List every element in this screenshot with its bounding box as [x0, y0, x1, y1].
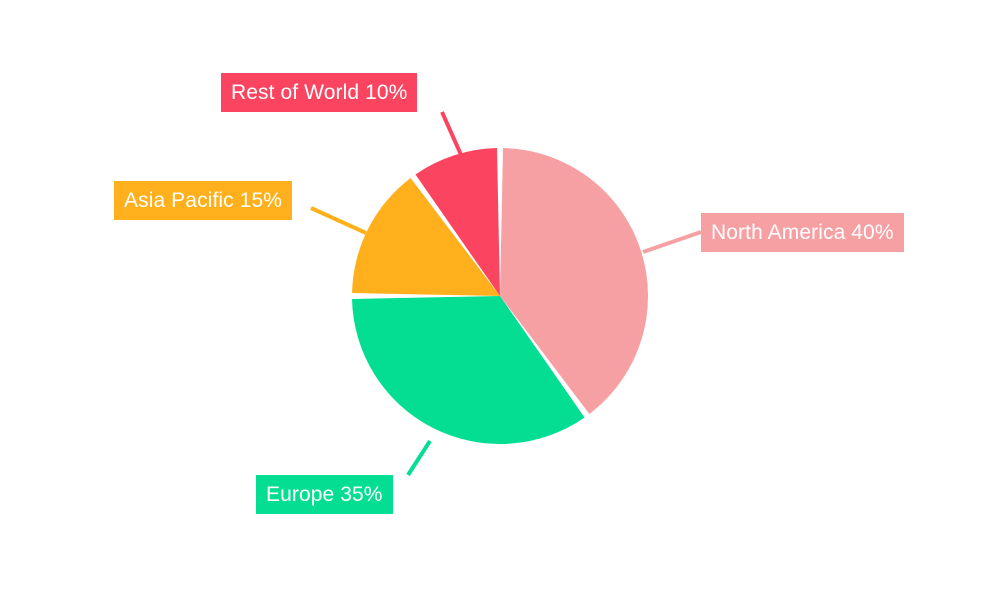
- pie-label-rest-of-world-text: Rest of World 10%: [231, 82, 407, 103]
- pie-chart-svg: [0, 0, 1000, 600]
- leader-line-asia-pacific: [311, 208, 366, 233]
- leader-line-north-america: [643, 232, 701, 252]
- pie-label-rest-of-world[interactable]: Rest of World 10%: [221, 73, 417, 112]
- pie-label-europe[interactable]: Europe 35%: [256, 475, 393, 514]
- pie-chart-canvas: North America 40% Europe 35% Asia Pacifi…: [0, 0, 1000, 600]
- pie-slices: [352, 148, 648, 444]
- pie-label-north-america[interactable]: North America 40%: [701, 213, 904, 252]
- pie-label-asia-pacific[interactable]: Asia Pacific 15%: [114, 181, 292, 220]
- pie-label-europe-text: Europe 35%: [266, 484, 383, 505]
- pie-label-asia-pacific-text: Asia Pacific 15%: [124, 190, 282, 211]
- pie-label-north-america-text: North America 40%: [711, 222, 894, 243]
- leader-line-europe: [408, 441, 430, 475]
